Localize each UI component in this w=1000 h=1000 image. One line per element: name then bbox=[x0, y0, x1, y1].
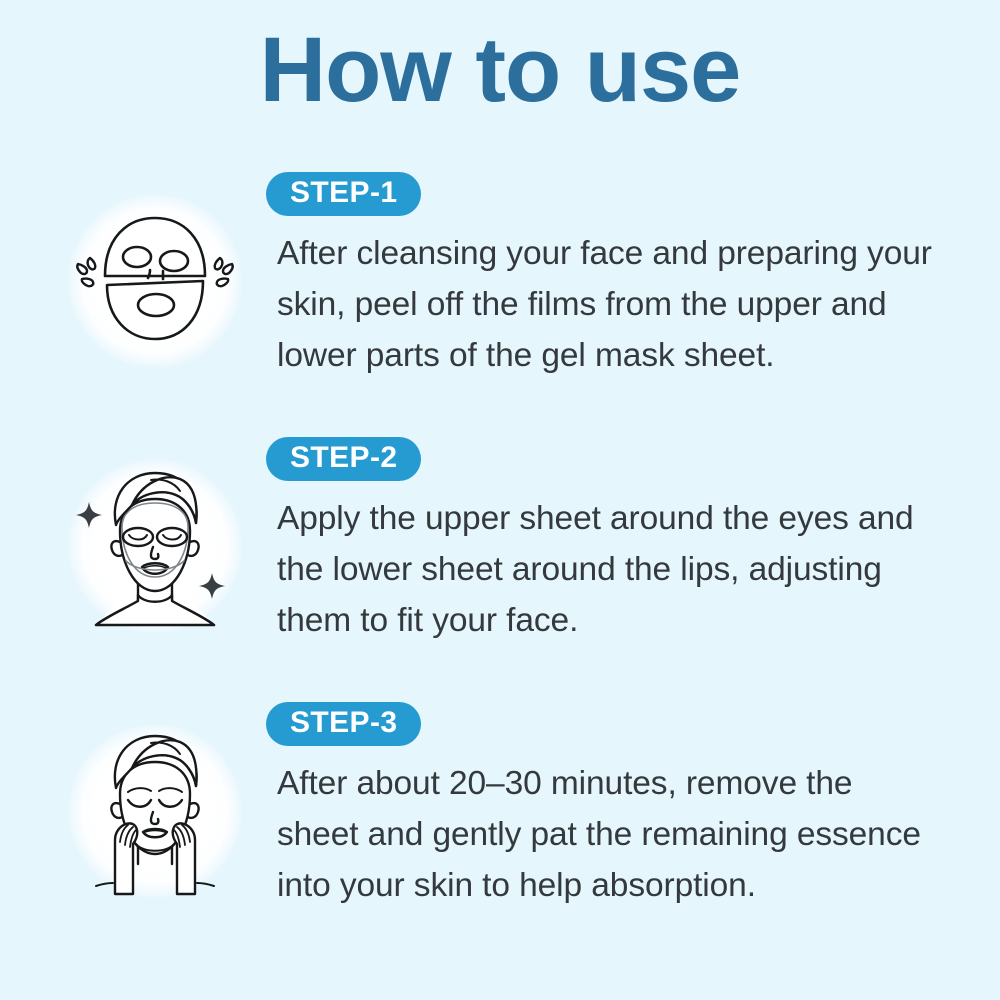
woman-patting-face-icon bbox=[58, 714, 252, 908]
step-1-badge: STEP-1 bbox=[266, 172, 421, 216]
step-1-content: STEP-1 After cleansing your face and pre… bbox=[266, 172, 936, 382]
step-3-text: After about 20–30 minutes, remove the sh… bbox=[277, 759, 936, 912]
step-1-text: After cleansing your face and preparing … bbox=[277, 229, 936, 382]
woman-wearing-mask-icon bbox=[58, 449, 252, 643]
page-title: How to use bbox=[0, 22, 1000, 119]
step-item: STEP-1 After cleansing your face and pre… bbox=[0, 172, 1000, 437]
step-2-text: Apply the upper sheet around the eyes an… bbox=[277, 494, 936, 647]
step-item: STEP-2 Apply the upper sheet around the … bbox=[0, 437, 1000, 702]
step-2-content: STEP-2 Apply the upper sheet around the … bbox=[266, 437, 936, 647]
step-2-illustration bbox=[58, 449, 252, 643]
step-2-badge: STEP-2 bbox=[266, 437, 421, 481]
step-3-illustration bbox=[58, 714, 252, 908]
steps-list: STEP-1 After cleansing your face and pre… bbox=[0, 172, 1000, 967]
step-3-content: STEP-3 After about 20–30 minutes, remove… bbox=[266, 702, 936, 912]
step-3-badge: STEP-3 bbox=[266, 702, 421, 746]
step-item: STEP-3 After about 20–30 minutes, remove… bbox=[0, 702, 1000, 967]
step-1-illustration bbox=[58, 184, 252, 378]
gel-mask-sheet-two-pieces-icon bbox=[58, 184, 252, 378]
